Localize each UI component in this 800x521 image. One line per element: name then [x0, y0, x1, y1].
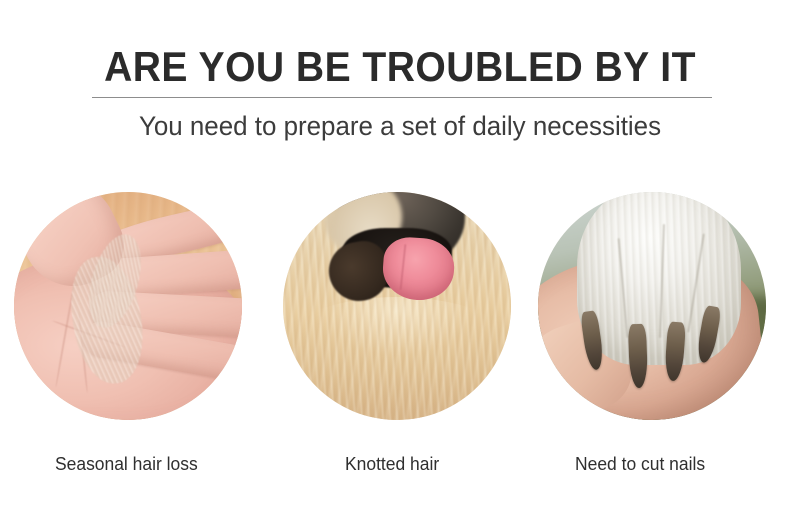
- photo-shed-hair-in-palm: [14, 192, 242, 420]
- card-knotted-hair: [283, 192, 511, 420]
- problem-cards: [0, 192, 800, 432]
- page-title: ARE YOU BE TROUBLED BY IT: [28, 44, 772, 90]
- photo-dog-paw-in-hand: [538, 192, 766, 420]
- caption-need-to-cut-nails: Need to cut nails: [575, 452, 705, 476]
- paw-fur-texture: [577, 192, 741, 365]
- promo-banner: ARE YOU BE TROUBLED BY IT You need to pr…: [0, 0, 800, 521]
- card-captions: Seasonal hair loss Knotted hair Need to …: [0, 452, 800, 482]
- card-seasonal-hair-loss: [14, 192, 242, 420]
- card-need-to-cut-nails: [538, 192, 766, 420]
- page-subtitle: You need to prepare a set of daily neces…: [16, 110, 784, 142]
- title-divider: [92, 97, 712, 98]
- photo-golden-retriever-muzzle: [283, 192, 511, 420]
- caption-seasonal-hair-loss: Seasonal hair loss: [55, 452, 198, 476]
- caption-knotted-hair: Knotted hair: [345, 452, 439, 476]
